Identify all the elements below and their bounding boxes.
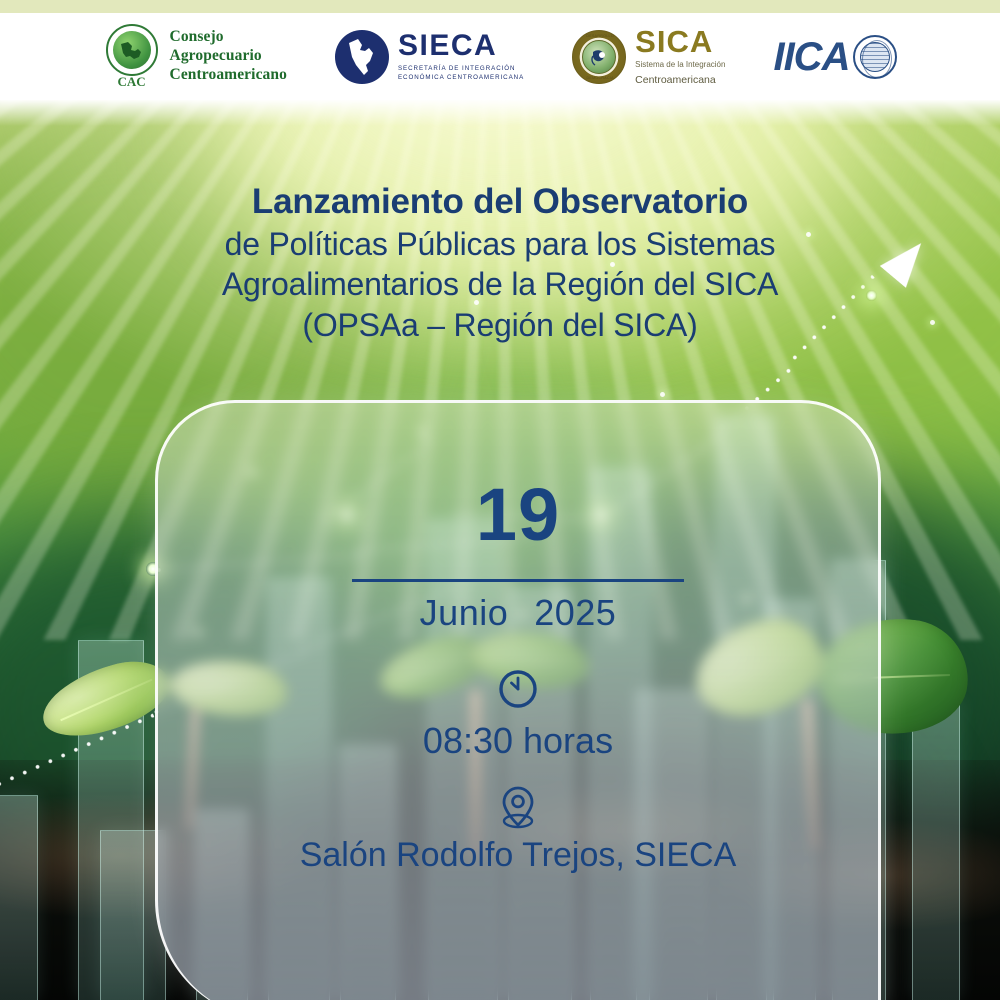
divider-rule xyxy=(352,579,684,582)
sica-seal-icon: DESARROLLO DEMOCRACIA xyxy=(572,30,626,84)
event-details: 19 Junio2025 08:30 horas Salón Rodolfo T… xyxy=(155,400,881,1000)
central-america-map-icon xyxy=(119,40,145,64)
sica-sub-1: Sistema de la Integración xyxy=(635,60,725,71)
logo-sica: DESARROLLO DEMOCRACIA SICA Sistema de la… xyxy=(572,26,725,88)
iica-name: IICA xyxy=(773,37,849,77)
iica-globe-icon xyxy=(853,35,897,79)
top-accent-band xyxy=(0,0,1000,13)
event-day: 19 xyxy=(155,478,881,552)
cac-wordmark: Consejo Agropecuario Centroamericano xyxy=(170,28,287,85)
cac-abbr: CAC xyxy=(103,74,161,90)
title-line-4: (OPSAa – Región del SICA) xyxy=(0,305,1000,345)
quetzal-bird-icon xyxy=(589,46,611,68)
event-month-year: Junio2025 xyxy=(155,592,881,634)
logo-sieca: SIECA SECRETARÍA DE INTEGRACIÓN ECONÓMIC… xyxy=(335,30,524,84)
title-line-2: de Políticas Públicas para los Sistemas xyxy=(0,224,1000,264)
logo-iica: IICA xyxy=(773,35,897,79)
clock-icon xyxy=(496,667,540,711)
logo-bar: CAC Consejo Agropecuario Centroamericano… xyxy=(0,13,1000,100)
event-month: Junio xyxy=(420,592,509,633)
event-year: 2025 xyxy=(534,592,616,633)
cac-line-1: Consejo xyxy=(170,28,287,47)
sieca-name: SIECA xyxy=(398,31,524,61)
title-line-3: Agroalimentarios de la Región del SICA xyxy=(0,264,1000,304)
event-venue: Salón Rodolfo Trejos, SIECA xyxy=(155,836,881,875)
sica-seal-bottom-text: DEMOCRACIA xyxy=(573,76,627,80)
logo-cac: CAC Consejo Agropecuario Centroamericano xyxy=(103,24,287,90)
sieca-sub-1: SECRETARÍA DE INTEGRACIÓN xyxy=(398,64,524,73)
sica-wordmark: SICA Sistema de la Integración Centroame… xyxy=(635,26,725,88)
sica-sub-2-text: Centroamericana xyxy=(635,74,716,86)
event-time: 08:30 horas xyxy=(155,720,881,762)
page-title: Lanzamiento del Observatorio de Política… xyxy=(0,180,1000,345)
sieca-seal-icon xyxy=(335,30,389,84)
central-america-map-icon xyxy=(347,37,377,77)
sica-name: SICA xyxy=(635,26,725,57)
event-poster: CAC Consejo Agropecuario Centroamericano… xyxy=(0,0,1000,1000)
cac-line-2: Agropecuario xyxy=(170,47,287,66)
sieca-sub-2: ECONÓMICA CENTROAMERICANA xyxy=(398,73,524,82)
cac-seal-icon: CAC xyxy=(103,24,161,90)
logo-bar-fade xyxy=(0,100,1000,126)
cac-line-3: Centroamericano xyxy=(170,66,287,85)
sica-seal-top-text: DESARROLLO xyxy=(573,34,627,38)
title-line-1: Lanzamiento del Observatorio xyxy=(0,180,1000,224)
sica-sub-2: Centroamericana xyxy=(635,73,725,87)
sieca-wordmark: SIECA SECRETARÍA DE INTEGRACIÓN ECONÓMIC… xyxy=(398,31,524,83)
location-pin-icon xyxy=(498,785,538,831)
